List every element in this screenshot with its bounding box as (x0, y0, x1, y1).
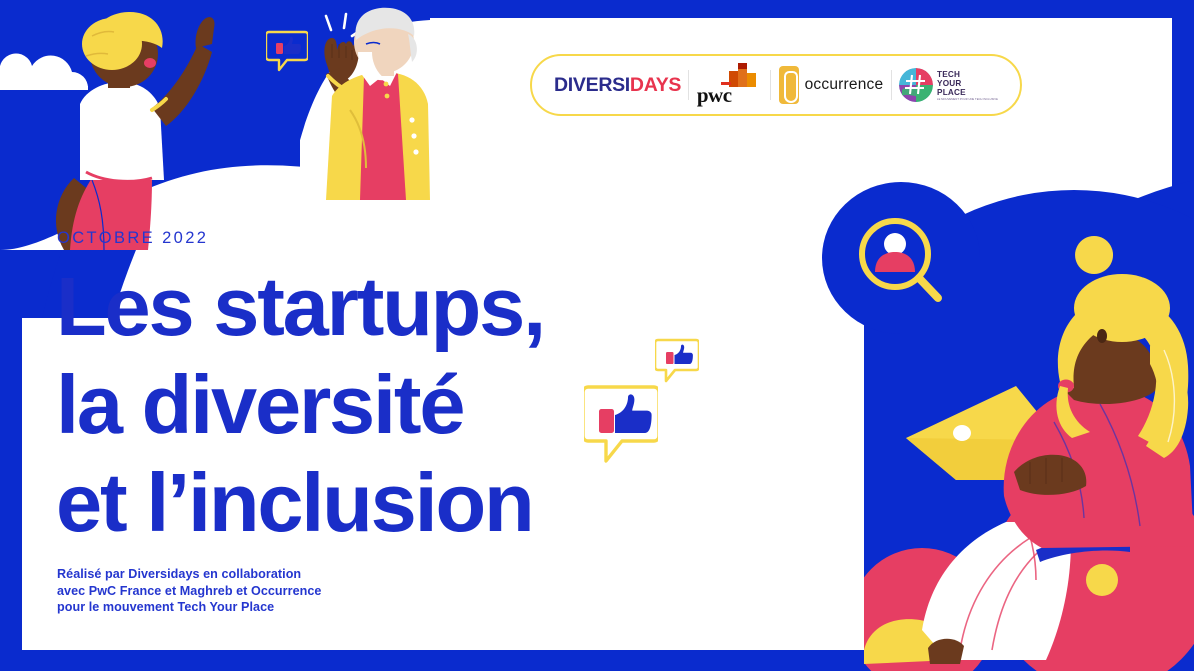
credit-block: Réalisé par Diversidays en collaboration… (57, 566, 321, 616)
logo-divider (770, 70, 771, 100)
logo-divider (891, 70, 892, 100)
logo-diversidays: DIVERSIDAYS (554, 74, 681, 97)
typ-tagline: LE MOUVEMENT POUR UNE TECH INCLUSIVE (937, 98, 998, 101)
person-search-pin-icon (822, 182, 980, 334)
thumbs-up-bubble-large (584, 383, 658, 471)
credit-line-3: pour le mouvement Tech Your Place (57, 599, 321, 616)
tech-your-place-circle-icon (899, 68, 933, 102)
occurrence-wordmark: occurrence (805, 76, 884, 94)
illustration-person-cardigan (200, 0, 430, 200)
credit-line-1: Réalisé par Diversidays en collaboration (57, 566, 321, 583)
diversidays-part1: DIVERSI (554, 74, 630, 96)
logo-pwc: pwc (697, 63, 763, 107)
logo-tech-your-place: TECH YOUR PLACE LE MOUVEMENT POUR UNE TE… (899, 68, 998, 102)
typ-line2: YOUR (937, 79, 998, 88)
credit-line-2: avec PwC France et Maghreb et Occurrence (57, 583, 321, 600)
thumbs-up-bubble-small (655, 337, 699, 387)
logo-occurrence: occurrence (779, 66, 884, 104)
typ-line3: PLACE (937, 88, 998, 97)
page-title: Les startups, la diversité et l’inclusio… (56, 258, 544, 552)
cover-date-kicker: OCTOBRE 2022 (57, 229, 208, 248)
partner-logo-bar: DIVERSIDAYS pwc occurrence (530, 54, 1022, 116)
headline-line-1: Les startups, (56, 258, 544, 356)
pwc-wordmark: pwc (697, 83, 732, 108)
cover-page: DIVERSIDAYS pwc occurrence (0, 0, 1194, 671)
logo-divider (688, 70, 689, 100)
typ-line1: TECH (937, 70, 998, 79)
headline-line-2: la diversité (56, 356, 544, 454)
diversidays-part2: DAYS (630, 74, 681, 96)
thumbs-up-bubble-topleft (266, 28, 308, 76)
occurrence-mark-icon (779, 66, 799, 104)
headline-line-3: et l’inclusion (56, 454, 544, 552)
